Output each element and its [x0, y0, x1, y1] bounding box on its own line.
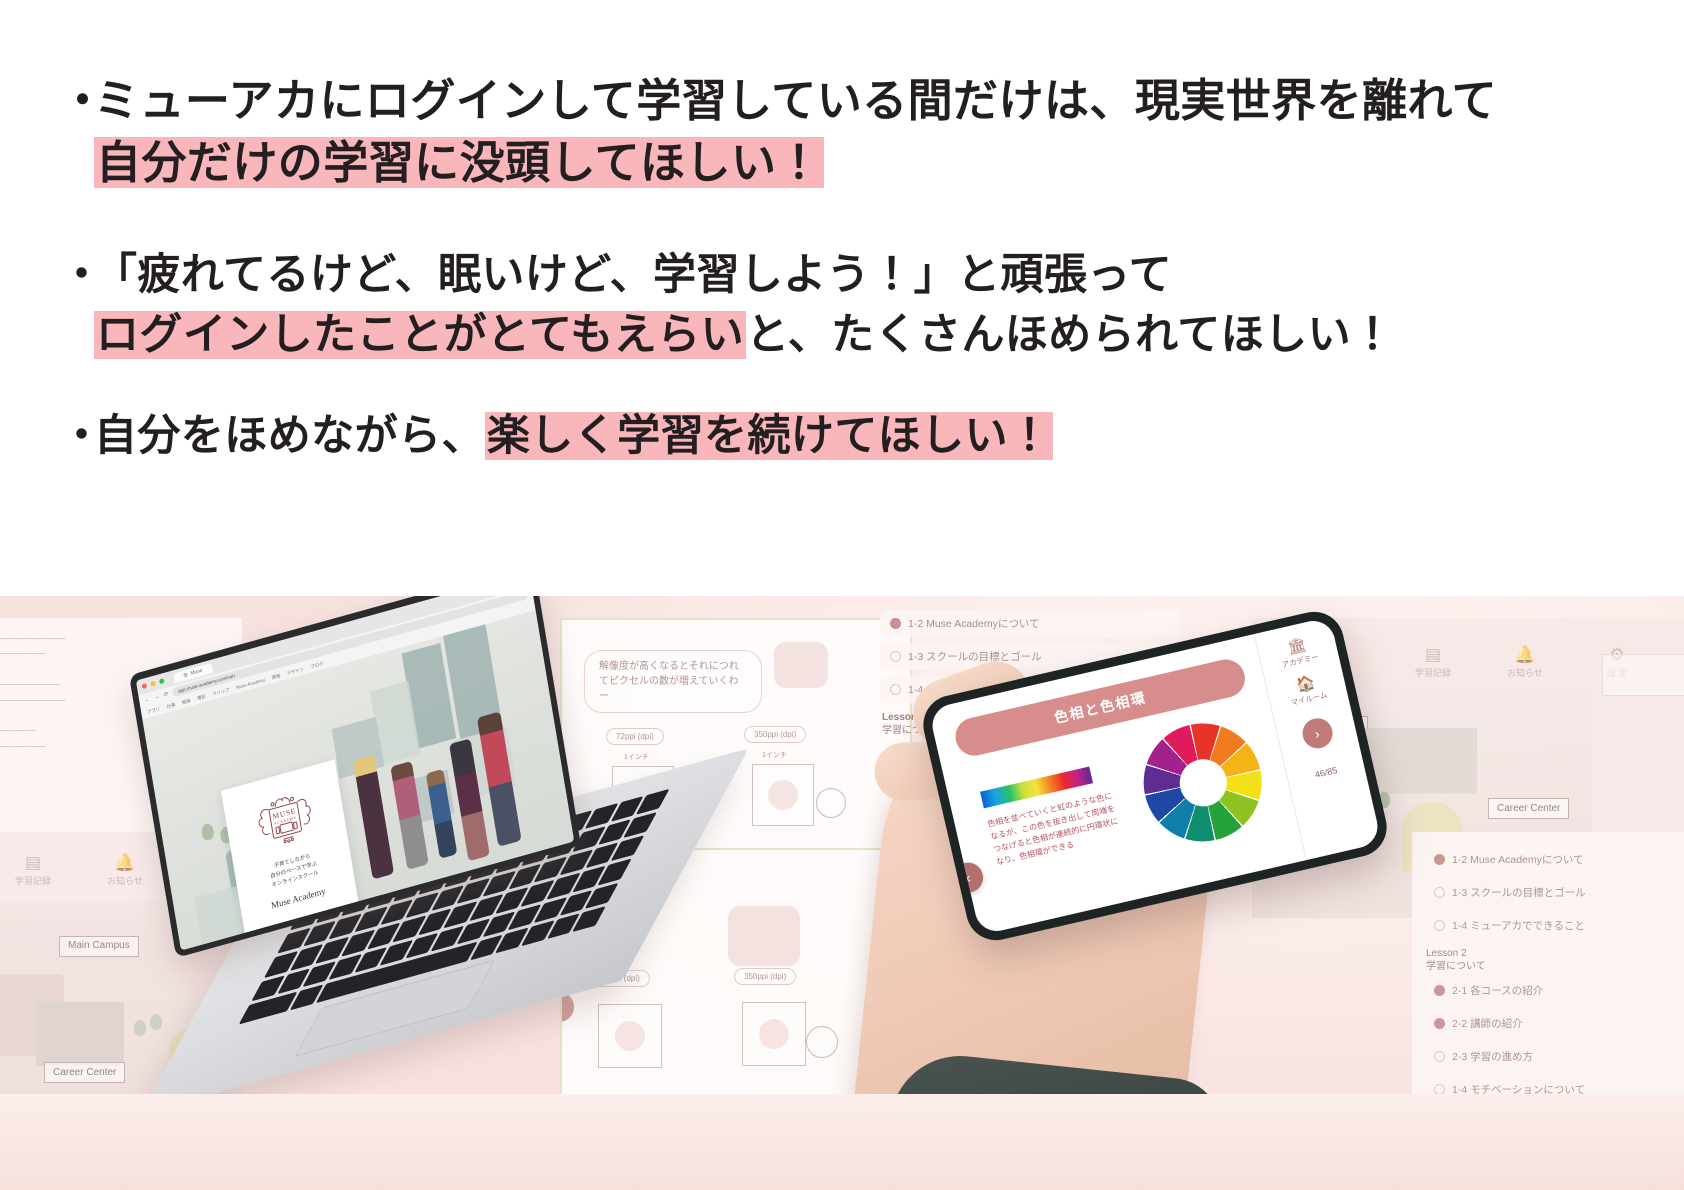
map-tag-career-center-2[interactable]: Career Center [1488, 798, 1569, 819]
bullet-2-line-2: ログインしたことがとてもえらいと、たくさんほめられてほしい！ [60, 306, 1624, 365]
bullet-1: ・ミューアカにログインして学習している間だけは、現実世界を離れて 自分だけの学習… [60, 70, 1624, 194]
spacer-1 [60, 204, 1624, 246]
checklist-bottom: 1-2 Muse Academyについて 1-3 スクールの目標とゴール 1-4… [1424, 846, 1684, 1109]
check-icon-empty-b1 [1434, 887, 1445, 898]
next-page-button[interactable]: › [1299, 715, 1335, 751]
bullet-3-line-1-text: 自分をほめながら、 [94, 412, 485, 460]
bullet-3-highlight: 楽しく学習を続けてほしい！ [485, 412, 1054, 460]
maximize-icon[interactable] [159, 678, 165, 684]
map-bubble: どちらに行きますか？ [0, 1102, 106, 1129]
checklist-b-label-1: 1-3 スクールの目標とゴール [1452, 885, 1586, 900]
sidebar-item-academy[interactable]: 🏛 アカデミー [1277, 635, 1320, 671]
bullet-marker-1: ・ [60, 70, 94, 132]
bullet-2-highlight: ログインしたことがとてもえらい [94, 311, 746, 359]
bullet-3: ・自分をほめながら、楽しく学習を続けてほしい！ [60, 407, 1624, 466]
bg-nav-right-item-0[interactable]: ▤ 学習記録 [1402, 646, 1464, 679]
bookmark-3[interactable]: 簿記 [197, 693, 206, 701]
bullet-2: ・「疲れてるけど、眠いけど、学習しよう！」と頑張って ログインしたことがとてもえ… [60, 246, 1624, 365]
bullet-1-highlight: 自分だけの学習に没頭してほしい！ [94, 137, 824, 188]
tab-favicon: ◍ [183, 671, 188, 678]
checklist-b-label-3: 2-1 各コースの紹介 [1452, 983, 1543, 998]
muse-academy-crest-icon: MUSE ACADEMY [250, 782, 321, 857]
forward-icon[interactable]: → [153, 693, 160, 701]
checklist-b-item-4[interactable]: 2-2 講師の紹介 [1424, 1010, 1684, 1037]
checklist-b-label-4: 2-2 講師の紹介 [1452, 1016, 1523, 1031]
bullet-1-line-1: ・ミューアカにログインして学習している間だけは、現実世界を離れて [60, 70, 1624, 132]
bg-nav-right-label-1: お知らせ [1494, 666, 1556, 679]
background-panel-right-lower: 1-2 Muse Academyについて 1-3 スクールの目標とゴール 1-4… [1412, 832, 1684, 1162]
checklist-b-item-2[interactable]: 1-4 ミューアカでできること [1424, 912, 1684, 939]
bookmark-2[interactable]: 勉強 [181, 697, 190, 705]
check-icon-done-b0 [1434, 854, 1445, 865]
check-icon-done-b3 [1434, 985, 1445, 996]
tab-label: Muse [190, 667, 203, 676]
bell-icon-2: 🔔 [1494, 646, 1556, 663]
bullet-3-line-1: ・自分をほめながら、楽しく学習を続けてほしい！ [60, 407, 1624, 466]
bookmark-6[interactable]: 資格 [271, 672, 280, 680]
spacer-2 [60, 375, 1624, 407]
laptop-device: ◍ Muse ＋ ← → ⟳ app.muse-academy.com/cart… [25, 606, 885, 1076]
check-icon-empty-b2 [1434, 920, 1445, 931]
hand-holding-phone: 色相と色相環 色相を並べていくと虹のような色になるが、この色を抜き出して両端をつ… [830, 596, 1390, 1190]
bullet-2-line-1-text: 「疲れてるけど、眠いけど、学習しよう！」と頑張って [94, 251, 1172, 299]
checklist-b-label-6: 1-4 モチベーションについて [1452, 1082, 1585, 1097]
record-icon-2: ▤ [1402, 646, 1464, 663]
bullet-2-line-1: ・「疲れてるけど、眠いけど、学習しよう！」と頑張って [60, 246, 1624, 305]
slide-text-block: ・ミューアカにログインして学習している間だけは、現実世界を離れて 自分だけの学習… [0, 0, 1684, 600]
check-icon-empty-b6 [1434, 1084, 1445, 1095]
back-icon[interactable]: ← [144, 696, 151, 704]
checklist-b-label-5: 2-3 学習の進め方 [1452, 1049, 1533, 1064]
checklist-b-heading: Lesson 2 学習について [1426, 947, 1684, 973]
bullet-2-tail: と、たくさんほめられてほしい！ [746, 311, 1394, 359]
color-wheel-diagram [1132, 712, 1274, 854]
checklist-b-item-5[interactable]: 2-3 学習の進め方 [1424, 1043, 1684, 1070]
check-icon-done-b4 [1434, 1018, 1445, 1029]
smartphone: 色相と色相環 色相を並べていくと虹のような色になるが、この色を抜き出して両端をつ… [917, 606, 1392, 946]
bullet-1-line-1-text: ミューアカにログインして学習している間だけは、現実世界を離れて [94, 75, 1497, 126]
checklist-b-item-6[interactable]: 1-4 モチベーションについて [1424, 1076, 1684, 1103]
checklist-b-item-1[interactable]: 1-3 スクールの目標とゴール [1424, 879, 1684, 906]
checklist-b-item-3[interactable]: 2-1 各コースの紹介 [1424, 977, 1684, 1004]
bg-nav-right-item-1[interactable]: 🔔 お知らせ [1494, 646, 1556, 679]
hero-tagline: 子育てしながら 自分のペースで学ぶ オンラインスクール [268, 851, 319, 891]
check-icon-empty-b5 [1434, 1051, 1445, 1062]
checklist-b-subtitle: 学習について [1426, 960, 1684, 973]
checklist-b-label-0: 1-2 Muse Academyについて [1452, 852, 1584, 867]
checklist-b-item-0[interactable]: 1-2 Muse Academyについて [1424, 846, 1684, 873]
sidebar-item-myroom[interactable]: 🏠 マイルーム [1286, 673, 1329, 709]
bg-doc-card [1602, 654, 1684, 696]
progress-counter: 46/85 [1314, 765, 1338, 780]
bullet-1-line-2: 自分だけの学習に没頭してほしい！ [60, 132, 1624, 194]
minimize-icon[interactable] [150, 681, 156, 687]
close-icon[interactable] [142, 683, 148, 689]
character-1 [353, 755, 394, 880]
bookmark-1[interactable]: 仕事 [166, 702, 175, 710]
reload-icon[interactable]: ⟳ [163, 690, 169, 698]
checklist-b-label-2: 1-4 ミューアカでできること [1452, 918, 1585, 933]
product-photo-montage: ────────────────────────────────────────… [0, 596, 1684, 1190]
bullet-marker-3: ・ [60, 407, 94, 466]
checklist-b-title: Lesson 2 [1426, 947, 1684, 960]
bullet-marker-2: ・ [60, 246, 94, 305]
bg-nav-right-label-0: 学習記録 [1402, 666, 1464, 679]
